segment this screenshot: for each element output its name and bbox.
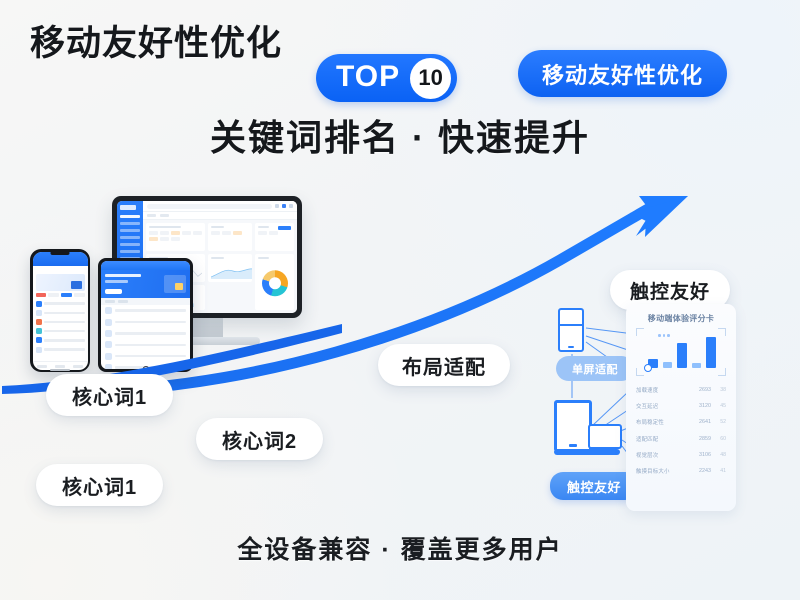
device-mockup-group xyxy=(22,196,322,376)
bar-chart-icon xyxy=(648,334,716,368)
row-value: 2693 xyxy=(691,387,711,393)
row-value: 3120 xyxy=(691,403,711,409)
infographic-pill-bottom-label: 触控友好 xyxy=(567,477,621,496)
infographic-pill-top[interactable]: 单屏适配 xyxy=(556,356,634,381)
row-name: 适配匹配 xyxy=(636,435,687,443)
row-value: 2859 xyxy=(691,436,711,442)
area-chart-icon xyxy=(211,263,251,279)
dashboard-card xyxy=(208,223,251,251)
dashboard-filter-chip xyxy=(147,214,156,217)
list-text xyxy=(44,321,85,324)
keyword-pill-label: 核心词1 xyxy=(62,471,137,500)
card-metrics xyxy=(149,231,202,241)
keyword-pill-label: 核心词1 xyxy=(72,381,147,410)
footer-tagline: 全设备兼容 · 覆盖更多用户 xyxy=(0,530,800,566)
phone-device-icon xyxy=(558,308,584,352)
phone-tab xyxy=(36,293,47,297)
row-value: 3106 xyxy=(691,452,711,458)
phone-tab xyxy=(74,293,85,297)
card-label xyxy=(258,257,270,259)
table-row: 交互延迟 3120 45 xyxy=(634,398,728,414)
metric xyxy=(149,237,158,241)
list-item xyxy=(33,308,88,317)
dashboard-avatar xyxy=(289,204,293,208)
metric xyxy=(269,231,278,235)
phone-notch xyxy=(51,251,70,255)
card-metrics xyxy=(258,231,291,235)
dashboard-card xyxy=(255,254,294,310)
metric xyxy=(193,231,202,235)
row-name: 交互延迟 xyxy=(636,402,687,410)
laptop-device-icon xyxy=(588,424,622,449)
keyword-pill-label: 核心词2 xyxy=(222,425,297,454)
frame-corner xyxy=(718,368,726,376)
metric xyxy=(160,231,169,235)
row-name: 触摸目标大小 xyxy=(636,467,687,475)
dashboard-nav-item xyxy=(120,236,140,239)
row-score: 48 xyxy=(715,452,726,458)
list-item xyxy=(101,305,190,316)
row-name: 布局稳定性 xyxy=(636,418,687,426)
infographic-pill-top-label: 单屏适配 xyxy=(572,361,618,377)
frame-corner xyxy=(636,328,644,336)
tablet-filterbar xyxy=(101,298,190,305)
table-row: 适配匹配 2859 60 xyxy=(634,431,728,447)
callout-label: 布局适配 xyxy=(402,351,486,380)
row-score: 60 xyxy=(715,436,726,442)
phone-banner xyxy=(36,274,85,291)
dashboard-icon xyxy=(282,204,286,208)
row-score: 41 xyxy=(715,468,726,474)
callout-pill-layout[interactable]: 布局适配 xyxy=(378,344,510,386)
score-card-title: 移动端体验评分卡 xyxy=(634,313,728,324)
dashboard-nav-item xyxy=(120,250,140,253)
hero-headline xyxy=(105,274,141,277)
dashboard-card xyxy=(208,254,251,282)
list-icon xyxy=(36,301,42,307)
metric xyxy=(211,231,220,235)
dashboard-nav-item xyxy=(120,222,140,225)
hero-subline xyxy=(105,280,128,283)
infographic-pill-bottom[interactable]: 触控友好 xyxy=(550,472,638,500)
phone-tab xyxy=(61,293,72,297)
list-item xyxy=(33,299,88,308)
tablet-hero-banner xyxy=(101,270,190,298)
keyword-pill-2[interactable]: 核心词2 xyxy=(196,418,323,460)
list-text xyxy=(44,302,85,305)
frame-corner xyxy=(636,368,644,376)
mobile-score-infographic: 单屏适配 触控友好 移动端体验评分卡 xyxy=(548,300,763,515)
keyword-pill-1[interactable]: 核心词1 xyxy=(46,374,173,416)
filter-chip xyxy=(118,300,128,303)
dashboard-nav-item xyxy=(120,243,140,246)
list-text xyxy=(115,309,186,312)
metric xyxy=(233,231,242,235)
list-icon xyxy=(105,307,112,314)
bar xyxy=(706,337,716,368)
metric xyxy=(171,237,180,241)
card-label xyxy=(149,226,181,228)
card-metrics xyxy=(211,231,248,235)
metric xyxy=(258,231,267,235)
dashboard-nav-item xyxy=(120,229,140,232)
score-card-chart xyxy=(636,328,726,376)
phone-search-input xyxy=(36,267,85,272)
bar xyxy=(692,363,702,368)
table-row: 视觉层次 3106 48 xyxy=(634,447,728,463)
metric xyxy=(171,231,180,235)
dashboard-card xyxy=(255,223,294,251)
frame-corner xyxy=(718,328,726,336)
row-score: 52 xyxy=(715,419,726,425)
row-name: 加载速度 xyxy=(636,386,687,394)
metric xyxy=(149,231,158,235)
dashboard-logo xyxy=(120,205,136,210)
bar xyxy=(677,343,687,368)
metric xyxy=(160,237,169,241)
list-text xyxy=(44,312,85,315)
dashboard-topbar xyxy=(143,201,297,212)
filter-chip xyxy=(105,300,115,303)
row-score: 45 xyxy=(715,403,726,409)
dashboard-icon xyxy=(275,204,279,208)
dashboard-filter-chip xyxy=(160,214,169,217)
dashboard-search-input xyxy=(147,204,272,209)
metric xyxy=(222,231,231,235)
hero-illustration xyxy=(164,275,186,293)
score-card: 移动端体验评分卡 加载速度 2693 38 xyxy=(626,304,736,511)
phone-tab xyxy=(48,293,59,297)
tablet-device-icon xyxy=(554,400,592,452)
tablet-statusbar xyxy=(101,261,190,270)
card-action-button xyxy=(278,226,291,230)
phone-home-indicator xyxy=(50,369,70,371)
laptop-base-icon xyxy=(554,449,620,455)
row-value: 2243 xyxy=(691,468,711,474)
dashboard-nav-item xyxy=(120,215,140,218)
card-label xyxy=(258,226,270,228)
poster-canvas: 移动友好性优化 TOP 10 移动友好性优化 关键词排名 · 快速提升 xyxy=(0,0,800,600)
table-row: 加载速度 2693 38 xyxy=(634,382,728,398)
table-row: 布局稳定性 2641 52 xyxy=(634,414,728,430)
hero-cta-button xyxy=(105,289,122,294)
list-text xyxy=(115,321,186,324)
keyword-pill-3[interactable]: 核心词1 xyxy=(36,464,163,506)
card-label xyxy=(211,257,224,259)
row-value: 2641 xyxy=(691,419,711,425)
row-name: 视觉层次 xyxy=(636,451,687,459)
metric xyxy=(182,231,191,235)
table-row: 触摸目标大小 2243 41 xyxy=(634,463,728,479)
dashboard-card xyxy=(146,223,205,251)
donut-chart-icon xyxy=(262,270,288,296)
card-label xyxy=(211,226,224,228)
bar xyxy=(663,362,673,368)
row-score: 38 xyxy=(715,387,726,393)
dashboard-filterbar xyxy=(143,212,297,220)
location-pin-icon xyxy=(644,364,652,372)
list-icon xyxy=(36,310,42,316)
